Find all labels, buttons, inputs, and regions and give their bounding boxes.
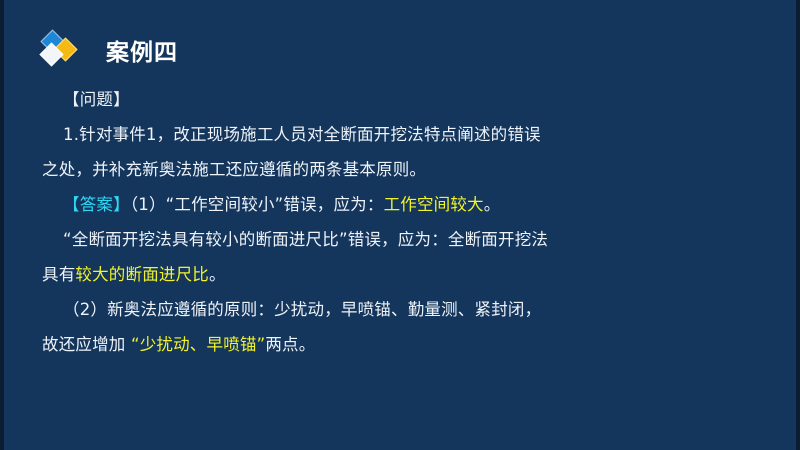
- answer-3-paragraph: （2）新奥法应遵循的原则：少扰动，早喷锚、勤量测、紧封闭，故还应增加 “少扰动、…: [42, 292, 554, 362]
- answer-1-text: （1）“工作空间较小”错误，应为：: [130, 195, 384, 214]
- answer-label: 【答案】: [63, 195, 130, 214]
- question-label-paragraph: 【问题】: [42, 82, 554, 117]
- page-title: 案例四: [106, 33, 178, 67]
- slide-body: 【问题】 1.针对事件1，改正现场施工人员对全断面开挖法特点阐述的错误之处，并补…: [42, 82, 554, 362]
- three-diamonds-logo-icon: [38, 31, 80, 69]
- answer-1-highlight: 工作空间较大: [384, 195, 484, 214]
- slide-right-edge-strip: [796, 0, 800, 450]
- slide-canvas: 案例四 【问题】 1.针对事件1，改正现场施工人员对全断面开挖法特点阐述的错误之…: [0, 0, 800, 450]
- answer-3-highlight: “少扰动、早喷锚”: [131, 335, 265, 354]
- slide-header: 案例四: [38, 28, 178, 72]
- answer-2-paragraph: “全断面开挖法具有较小的断面进尺比”错误，应为：全断面开挖法具有较大的断面进尺比…: [42, 222, 554, 292]
- answer-3-text-b: 两点。: [265, 335, 315, 354]
- answer-2-period: 。: [209, 265, 226, 284]
- answer-1-period: 。: [484, 195, 501, 214]
- slide-left-edge-strip: [0, 0, 4, 450]
- answer-1-paragraph: 【答案】（1）“工作空间较小”错误，应为：工作空间较大。: [42, 187, 554, 222]
- question-paragraph: 1.针对事件1，改正现场施工人员对全断面开挖法特点阐述的错误之处，并补充新奥法施…: [42, 117, 554, 187]
- question-label: 【问题】: [63, 90, 130, 109]
- answer-2-highlight: 较大的断面进尺比: [75, 265, 209, 284]
- question-text-line-1: 1.针对事件1，改正现场施工人员对全断面开挖法特点阐述: [63, 125, 491, 144]
